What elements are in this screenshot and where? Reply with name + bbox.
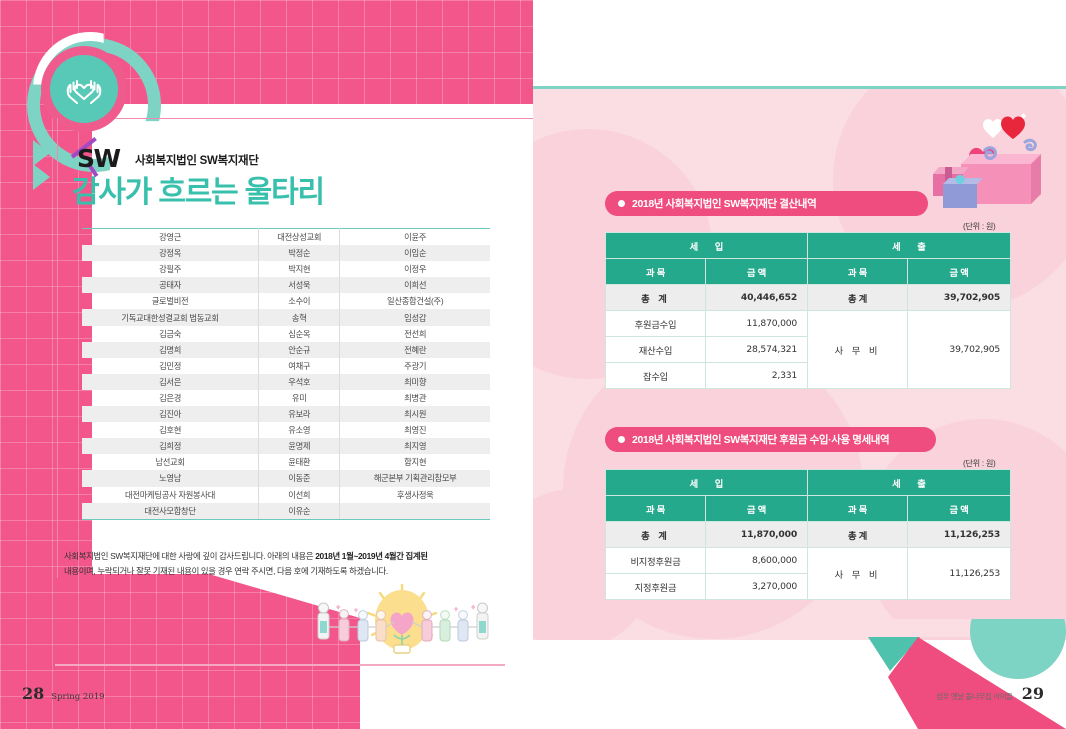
donor-cell: 임성갑 (340, 309, 490, 325)
donor-cell: 대전사모합창단 (82, 503, 259, 520)
donor-cell: 공태자 (82, 277, 259, 293)
donor-cell: 해군본부 기획관리참모부 (340, 470, 490, 486)
donor-cell: 김서은 (82, 374, 259, 390)
donor-cell: 김진아 (82, 406, 259, 422)
table-row: 대전마케팅공사 자원봉사대이선희후생사정욱 (82, 487, 490, 503)
donor-table-body: 강영근대전상성교회이윤주강정옥박정순이임순강필주박지현이정우공태자서성욱이희선글… (82, 229, 490, 520)
donation-income-item: 지정후원금 (606, 574, 706, 600)
section-heading-1: 2018년 사회복지법인 SW복지재단 결산내역 (605, 191, 928, 216)
donor-cell: 이정우 (340, 261, 490, 277)
settlement-income-item: 후원금수입 (606, 311, 706, 337)
table-row: 비지정후원금 8,600,000 사 무 비 11,126,253 (606, 548, 1011, 574)
donor-cell: 최영진 (340, 422, 490, 438)
donation-expense-total-item: 총 계 (808, 522, 908, 548)
donation-group-income: 세 입 (606, 470, 808, 496)
donation-table-head: 세 입 세 출 과 목 금 액 과 목 금 액 (606, 470, 1011, 522)
gift-box-illustration (921, 108, 1046, 208)
donor-cell: 남선교회 (82, 454, 259, 470)
right-footer-text: 섬우 옛날 돌나무집 아이들 (936, 691, 1013, 702)
donor-cell: 글로벌비전 (82, 293, 259, 309)
table-row: 남선교회윤태환함지현 (82, 454, 490, 470)
table-row: 김은경유미최병관 (82, 390, 490, 406)
donor-cell: 우석호 (259, 374, 340, 390)
section-heading-2: 2018년 사회복지법인 SW복지재단 후원금 수입·사용 명세내역 (605, 427, 936, 452)
donor-cell: 이희선 (340, 277, 490, 293)
donor-cell: 전혜란 (340, 342, 490, 358)
donor-cell: 박지현 (259, 261, 340, 277)
donor-cell: 서성욱 (259, 277, 340, 293)
bullet-dot-icon (618, 200, 625, 207)
donation-expense-item: 사 무 비 (808, 548, 908, 600)
donor-cell: 김은경 (82, 390, 259, 406)
corner-teal-circle (970, 619, 1066, 679)
bullet-dot-icon (618, 436, 625, 443)
lightbulb-people-illustration (300, 583, 505, 663)
donation-column-header-row: 과 목 금 액 과 목 금 액 (606, 496, 1011, 522)
teal-top-rule (533, 86, 1066, 89)
table-row: 김호현유소영최영진 (82, 422, 490, 438)
section-heading-2-label: 2018년 사회복지법인 SW복지재단 후원금 수입·사용 명세내역 (632, 432, 889, 447)
donor-cell: 대전상성교회 (259, 229, 340, 246)
donor-cell: 여채구 (259, 358, 340, 374)
donation-expense-total-amount: 11,126,253 (908, 522, 1011, 548)
magazine-spread: SW 사회복지법인 SW복지재단 감사가 흐르는 울타리 강영근대전상성교회이윤… (0, 0, 1066, 729)
unit-note-2: (단위 : 원) (963, 457, 995, 469)
donation-income-amount: 8,600,000 (706, 548, 808, 574)
donor-cell: 박정순 (259, 245, 340, 261)
table-row: 강영근대전상성교회이윤주 (82, 229, 490, 246)
right-page-footer: 섬우 옛날 돌나무집 아이들 29 (936, 684, 1044, 703)
donor-cell: 김호현 (82, 422, 259, 438)
settlement-expense-amount: 39,702,905 (908, 311, 1011, 389)
donor-cell: 강필주 (82, 261, 259, 277)
table-row: 후원금수입 11,870,000 사 무 비 39,702,905 (606, 311, 1011, 337)
table-row: 총 계 11,870,000 총 계 11,126,253 (606, 522, 1011, 548)
donor-cell: 유미 (259, 390, 340, 406)
donor-cell: 기독교대한성결교회 법동교회 (82, 309, 259, 325)
donor-cell: 함지현 (340, 454, 490, 470)
settlement-income-item: 재산수입 (606, 337, 706, 363)
donor-cell: 전선희 (340, 326, 490, 342)
settlement-income-total-amount: 40,446,652 (706, 285, 808, 311)
donor-cell: 김희정 (82, 438, 259, 454)
settlement-income-amount: 11,870,000 (706, 311, 808, 337)
donor-cell: 강영근 (82, 229, 259, 246)
table-row: 총 계 40,446,652 총 계 39,702,905 (606, 285, 1011, 311)
donor-cell: 최미향 (340, 374, 490, 390)
note-line1-highlight: 2018년 1월~2019년 4월간 집계된 (315, 551, 427, 561)
donation-col-expense-item: 과 목 (808, 496, 908, 522)
donor-cell: 최병관 (340, 390, 490, 406)
sw-logo-mark: SW (72, 140, 128, 170)
table-row: 공태자서성욱이희선 (82, 277, 490, 293)
settlement-group-income: 세 입 (606, 233, 808, 259)
left-footer-text: Spring 2019 (51, 692, 104, 702)
settlement-income-item: 잡수입 (606, 363, 706, 389)
donation-col-income-amount: 금 액 (706, 496, 808, 522)
donor-cell: 후생사정욱 (340, 487, 490, 503)
donor-cell: 주광기 (340, 358, 490, 374)
donor-cell: 심순옥 (259, 326, 340, 342)
settlement-group-expense: 세 출 (808, 233, 1011, 259)
settlement-table-body: 총 계 40,446,652 총 계 39,702,905 후원금수입 11,8… (606, 285, 1011, 389)
donor-cell: 김금숙 (82, 326, 259, 342)
settlement-income-amount: 28,574,321 (706, 337, 808, 363)
table-row: 김진아유보라최시원 (82, 406, 490, 422)
donor-cell: 윤명제 (259, 438, 340, 454)
donor-cell: 노영남 (82, 470, 259, 486)
donor-cell: 이임순 (340, 245, 490, 261)
donor-cell: 최지영 (340, 438, 490, 454)
donor-cell: 이동준 (259, 470, 340, 486)
donation-income-amount: 3,270,000 (706, 574, 808, 600)
donor-cell: 일산종합건설(주) (340, 293, 490, 309)
donor-cell: 대전마케팅공사 자원봉사대 (82, 487, 259, 503)
ground-line (55, 664, 505, 666)
donation-table-body: 총 계 11,870,000 총 계 11,126,253 비지정후원금 8,6… (606, 522, 1011, 600)
donor-cell: 윤태환 (259, 454, 340, 470)
horizontal-rule (115, 118, 533, 119)
donor-cell: 안순규 (259, 342, 340, 358)
table-row: 김금숙심순옥전선희 (82, 326, 490, 342)
hands-holding-heart-icon (64, 72, 104, 106)
logo-row: SW 사회복지법인 SW복지재단 (72, 140, 502, 170)
donor-cell: 유소영 (259, 422, 340, 438)
table-row: 대전사모합창단이유순 (82, 503, 490, 520)
table-row: 강필주박지현이정우 (82, 261, 490, 277)
logo-wordmark: SW (77, 146, 120, 171)
donor-cell: 최시원 (340, 406, 490, 422)
settlement-column-header-row: 과 목 금 액 과 목 금 액 (606, 259, 1011, 285)
donor-cell: 이선희 (259, 487, 340, 503)
settlement-col-expense-amount: 금 액 (908, 259, 1011, 285)
right-page-white-header (533, 0, 1066, 86)
left-page: SW 사회복지법인 SW복지재단 감사가 흐르는 울타리 강영근대전상성교회이윤… (0, 0, 533, 729)
note-line2: 내용이며, 누락되거나 잘못 기재된 내용이 있을 경우 연락 주시면, 다음 … (64, 566, 388, 576)
acknowledgement-note: 사회복지법인 SW복지재단에 대한 사랑에 깊이 감사드립니다. 아래의 내용은… (64, 549, 488, 578)
donation-group-header-row: 세 입 세 출 (606, 470, 1011, 496)
right-page-number: 29 (1022, 684, 1044, 703)
table-row: 노영남이동준해군본부 기획관리참모부 (82, 470, 490, 486)
donor-cell: 이윤주 (340, 229, 490, 246)
donation-expense-amount: 11,126,253 (908, 548, 1011, 600)
section-heading-1-label: 2018년 사회복지법인 SW복지재단 결산내역 (632, 196, 816, 211)
settlement-col-income-item: 과 목 (606, 259, 706, 285)
table-row: 김명희안순규전혜란 (82, 342, 490, 358)
settlement-group-header-row: 세 입 세 출 (606, 233, 1011, 259)
unit-note-1: (단위 : 원) (963, 220, 995, 232)
settlement-table-head: 세 입 세 출 과 목 금 액 과 목 금 액 (606, 233, 1011, 285)
settlement-income-amount: 2,331 (706, 363, 808, 389)
note-line1-a: 사회복지법인 SW복지재단에 대한 사랑에 깊이 감사드립니다. 아래의 내용은 (64, 551, 315, 561)
settlement-expense-total-item: 총 계 (808, 285, 908, 311)
right-page: 2018년 사회복지법인 SW복지재단 결산내역 (단위 : 원) 세 입 세 … (533, 0, 1066, 729)
table-row: 글로벌비전소수이일산종합건설(주) (82, 293, 490, 309)
table-row: 강정옥박정순이임순 (82, 245, 490, 261)
donor-cell: 송혁 (259, 309, 340, 325)
donation-income-total-amount: 11,870,000 (706, 522, 808, 548)
page-title: 감사가 흐르는 울타리 (72, 176, 502, 209)
settlement-col-expense-item: 과 목 (808, 259, 908, 285)
settlement-table: 세 입 세 출 과 목 금 액 과 목 금 액 총 계 40,446,652 총… (605, 232, 1011, 389)
donor-cell: 김민정 (82, 358, 259, 374)
table-row: 김희정윤명제최지영 (82, 438, 490, 454)
donor-cell: 소수이 (259, 293, 340, 309)
donor-cell: 유보라 (259, 406, 340, 422)
donor-name-table: 강영근대전상성교회이윤주강정옥박정순이임순강필주박지현이정우공태자서성욱이희선글… (82, 228, 490, 520)
settlement-col-income-amount: 금 액 (706, 259, 808, 285)
hands-heart-badge (50, 55, 118, 123)
donor-cell (340, 503, 490, 520)
donation-detail-table: 세 입 세 출 과 목 금 액 과 목 금 액 총 계 11,870,000 총… (605, 469, 1011, 600)
left-page-footer: 28 Spring 2019 (22, 684, 105, 703)
chevron-decoration-2 (33, 164, 50, 190)
settlement-income-total-item: 총 계 (606, 285, 706, 311)
donation-income-total-item: 총 계 (606, 522, 706, 548)
settlement-expense-item: 사 무 비 (808, 311, 908, 389)
corner-decoration (860, 619, 1066, 729)
vertical-rule (57, 118, 58, 578)
donor-cell: 강정옥 (82, 245, 259, 261)
donation-col-income-item: 과 목 (606, 496, 706, 522)
table-row: 김민정여채구주광기 (82, 358, 490, 374)
organization-name: 사회복지법인 SW복지재단 (135, 152, 259, 170)
donor-cell: 이유순 (259, 503, 340, 520)
donation-group-expense: 세 출 (808, 470, 1011, 496)
donor-cell: 김명희 (82, 342, 259, 358)
table-row: 김서은우석호최미향 (82, 374, 490, 390)
left-page-number: 28 (22, 684, 44, 703)
donation-col-expense-amount: 금 액 (908, 496, 1011, 522)
chevron-decoration-1 (33, 140, 50, 166)
donation-income-item: 비지정후원금 (606, 548, 706, 574)
settlement-expense-total-amount: 39,702,905 (908, 285, 1011, 311)
table-row: 기독교대한성결교회 법동교회송혁임성갑 (82, 309, 490, 325)
brand-block: SW 사회복지법인 SW복지재단 감사가 흐르는 울타리 (72, 140, 502, 209)
